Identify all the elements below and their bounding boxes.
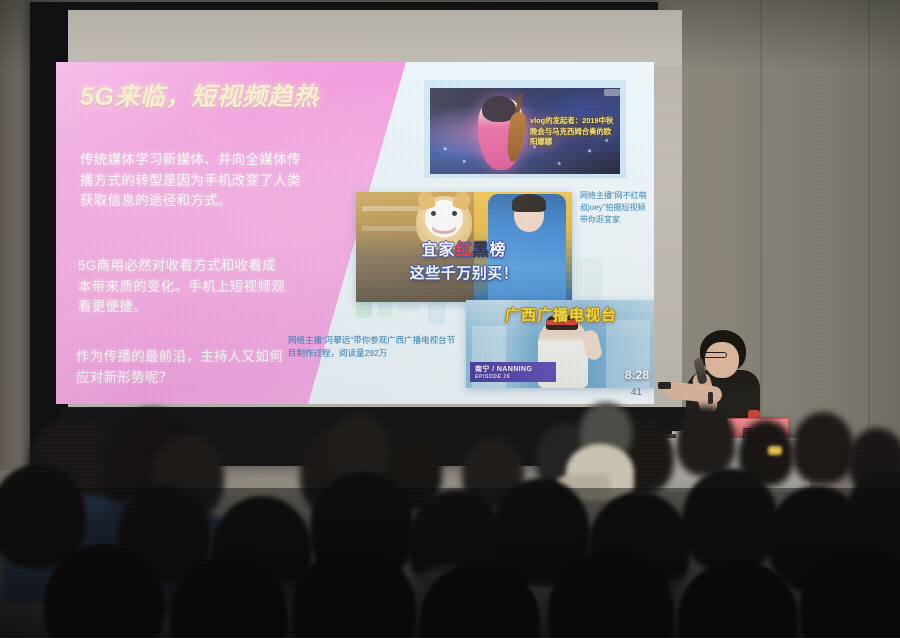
location-badge-cn: 南宁 / NANNING	[475, 364, 556, 374]
lecture-hall-photo: 5G来临，短视频趋热 传统媒体学习新媒体、并向全媒体传播方式的转型是因为手机改变…	[0, 0, 900, 638]
media-card-guangxi-tv[interactable]: 广西广播电视台 南宁 / NANNING EPISODE 16 8:28	[466, 300, 654, 388]
audience-head	[676, 406, 736, 476]
slide-title: 5G来临，短视频趋热	[80, 82, 340, 113]
ikea-title-tail: 榜	[490, 242, 507, 259]
audience-shadow-gradient	[0, 488, 900, 638]
presentation-clicker	[658, 382, 671, 389]
location-badge: 南宁 / NANNING EPISODE 16	[470, 362, 556, 382]
presenter-face	[705, 342, 739, 378]
ikea-subtitle: 这些千万别买！	[366, 262, 562, 283]
video-timestamp: 8:28	[625, 368, 649, 382]
ikea-title-main: 宜家	[421, 242, 455, 259]
slide-paragraph-1: 传统媒体学习新媒体、并向全媒体传播方式的转型是因为手机改变了人类获取信息的途径和…	[80, 150, 306, 212]
guangxi-tv-title: 广西广播电视台	[472, 304, 650, 325]
hair-clip	[768, 446, 782, 455]
audience-area	[0, 398, 900, 638]
ikea-host-hair	[512, 194, 546, 212]
location-badge-en: EPISODE 16	[475, 374, 556, 380]
cellist-overlay-caption: vlog的发起者：2019中秋晚会与马克西姆合奏的欧阳娜娜	[530, 116, 616, 148]
media-card-ikea-review[interactable]: 宜家红黑榜 这些千万别买！	[356, 192, 572, 302]
ikea-title-line: 宜家红黑榜	[370, 236, 558, 260]
slide-paragraph-2: 5G商用必然对收看方式和收看成本带来质的变化。手机上短视频观看更便捷。	[78, 256, 288, 318]
ikea-title-red: 红	[455, 242, 472, 259]
glasses-icon	[703, 352, 727, 358]
presentation-slide: 5G来临，短视频趋热 传统媒体学习新媒体、并向全媒体传播方式的转型是因为手机改变…	[56, 62, 654, 404]
slide-paragraph-3: 作为传播的最前沿，主持人又如何应对新形势呢？	[76, 347, 290, 388]
ikea-title-black: 黑	[473, 242, 490, 259]
caption-guangxi: 网络主播“冯攀远”带你参观广西广播电视台节目制作过程，阅读量292万	[288, 334, 456, 360]
audience-head	[792, 412, 854, 484]
media-card-cellist-vlog[interactable]: vlog的发起者：2019中秋晚会与马克西姆合奏的欧阳娜娜	[424, 80, 626, 178]
video-player-controls-icon	[604, 89, 620, 96]
slide-page-number: 41	[631, 387, 642, 398]
screen-top-blank-area	[68, 10, 682, 66]
caption-ikea: 网络主播“网不红萌叔joey”拍摄短视频带你逛宜家	[580, 190, 652, 226]
